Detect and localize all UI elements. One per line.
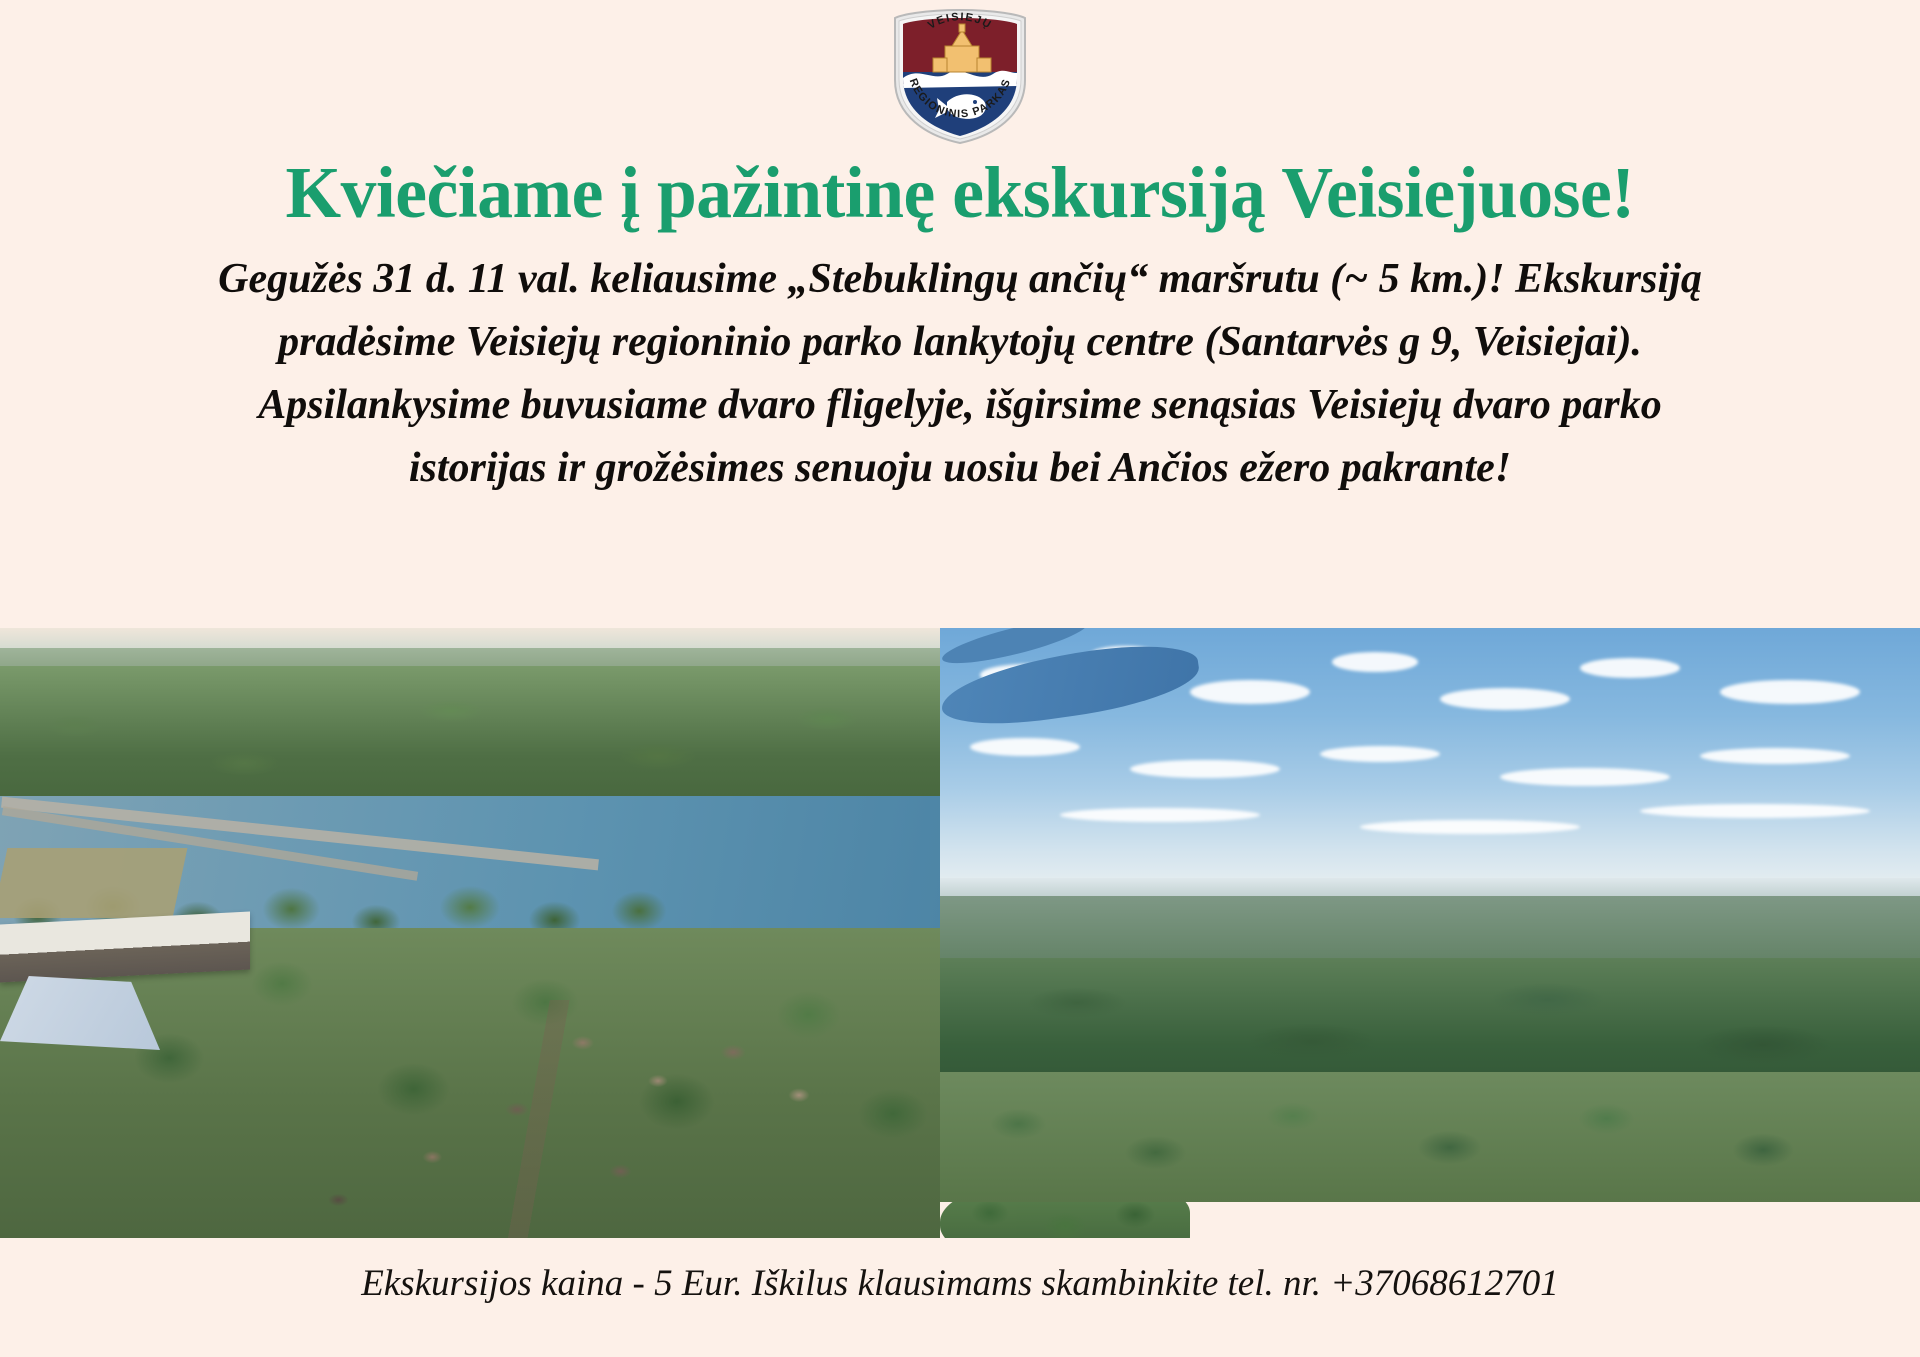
description-line-3: Apsilankysime buvusiame dvaro fligelyje,… — [50, 374, 1870, 437]
photo-veisiejai-town-aerial — [0, 628, 940, 1238]
cloud-icon — [970, 738, 1080, 756]
cloud-icon — [1190, 680, 1310, 704]
page-title: Kviečiame į pažintinę ekskursiją Veisiej… — [19, 156, 1901, 230]
event-description: Gegužės 31 d. 11 val. keliausime „Stebuk… — [50, 248, 1870, 500]
park-logo: VEISIEJŲ REGIONINIS PARKAS — [885, 6, 1035, 144]
photo-veisiejai-lakes-aerial — [940, 628, 1920, 1238]
left-photo-forest — [0, 666, 940, 816]
cloud-icon — [1440, 688, 1570, 710]
description-line-1: Gegužės 31 d. 11 val. keliausime „Stebuk… — [50, 248, 1870, 311]
cloud-icon — [1640, 804, 1870, 818]
description-line-4: istorijas ir grožėsimes senuoju uosiu be… — [50, 437, 1870, 500]
cloud-icon — [1130, 760, 1280, 778]
cloud-icon — [1580, 658, 1680, 678]
cloud-icon — [1320, 746, 1440, 762]
cloud-icon — [1720, 680, 1860, 704]
cloud-icon — [1360, 820, 1580, 834]
cloud-icon — [1332, 652, 1418, 672]
poster-root: VEISIEJŲ REGIONINIS PARKAS Kviečiame į p… — [0, 0, 1920, 1357]
cloud-icon — [1060, 808, 1260, 822]
photo-strip — [0, 628, 1920, 1238]
right-photo-town — [940, 1072, 1920, 1202]
veisieju-regioninis-parkas-crest-icon: VEISIEJŲ REGIONINIS PARKAS — [885, 6, 1035, 144]
price-and-contact-caption: Ekskursijos kaina - 5 Eur. Iškilus klaus… — [0, 1262, 1920, 1305]
cloud-icon — [1700, 748, 1850, 764]
description-line-2: pradėsime Veisiejų regioninio parko lank… — [50, 311, 1870, 374]
cloud-icon — [1500, 768, 1670, 786]
left-photo-field — [0, 848, 187, 918]
